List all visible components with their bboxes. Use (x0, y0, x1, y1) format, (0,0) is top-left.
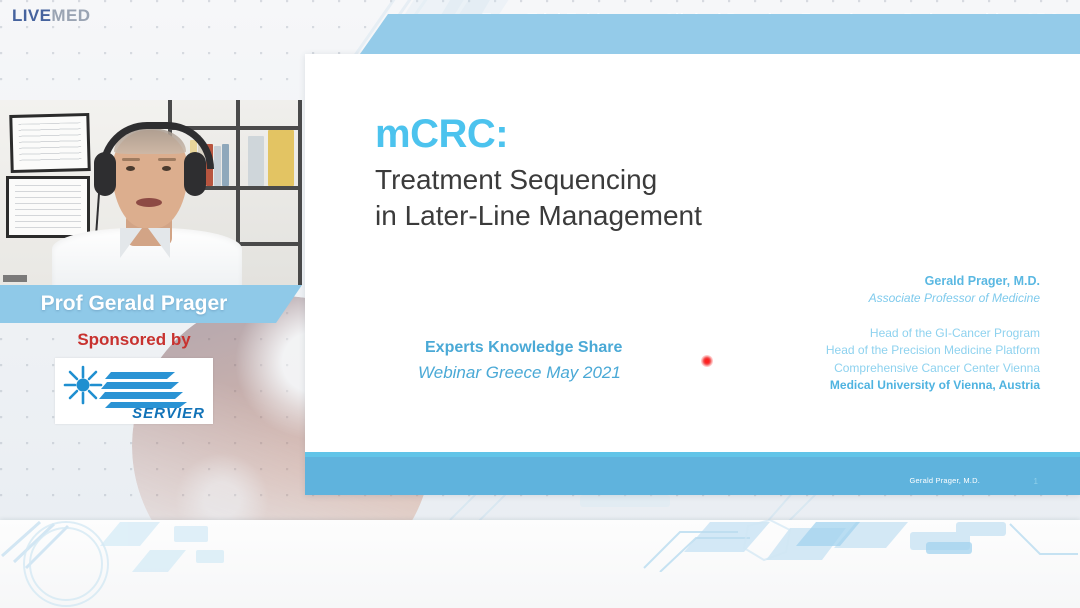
banner-left-decoration (0, 520, 230, 608)
presentation-slide[interactable]: mCRC: Treatment Sequencing in Later-Line… (305, 54, 1080, 495)
servier-logo-left: SERVIER (55, 358, 213, 424)
credential-affiliation: Medical University of Vienna, Austria (710, 377, 1040, 395)
video-watermark (3, 275, 27, 282)
svg-text:SERVIER: SERVIER (132, 405, 205, 422)
logo-live: LIVE (12, 6, 51, 25)
servier-starburst-icon (65, 367, 101, 403)
video-certificate-frame-1 (9, 113, 90, 173)
credential-line-2: Head of the Precision Medicine Platform (710, 342, 1040, 360)
event-name: Experts Knowledge Share (425, 339, 622, 357)
headphone-cup-left (94, 152, 116, 196)
speaker-mouth (136, 198, 162, 207)
webinar-title-banner (360, 14, 1080, 54)
slide-footer-name: Gerald Prager, M.D. (910, 476, 981, 485)
logo-med: MED (51, 6, 90, 25)
slide-title-highlight: mCRC: (375, 112, 508, 157)
credential-line-1: Head of the GI-Cancer Program (710, 325, 1040, 343)
slide-subtitle: Treatment Sequencing in Later-Line Manag… (375, 162, 702, 234)
speaker-video-feed[interactable] (0, 100, 302, 285)
servier-swoosh (99, 372, 187, 408)
credential-line-3: Comprehensive Cancer Center Vienna (710, 360, 1040, 378)
event-bottom-banner: Optimal Treatment for mCRC Clinical deci… (0, 520, 1080, 608)
sponsored-by-label-left: Sponsored by (0, 330, 268, 350)
credential-role: Associate Professor of Medicine (710, 290, 1040, 308)
event-detail: Webinar Greece May 2021 (418, 363, 621, 383)
speaker-credentials: Gerald Prager, M.D. Associate Professor … (710, 272, 1040, 395)
headphone-cup-right (184, 152, 206, 196)
video-certificate-frame-2 (6, 176, 90, 238)
speaker-name-text: Prof Gerald Prager (0, 285, 268, 323)
livemed-logo: LIVEMED (12, 6, 90, 26)
credential-name: Gerald Prager, M.D. (710, 272, 1040, 290)
webinar-screen: LIVEMED From Trial Evidence to Clinical … (0, 0, 1080, 608)
banner-right-decoration (640, 520, 1080, 572)
slide-footer-page: 1 (1034, 477, 1038, 486)
